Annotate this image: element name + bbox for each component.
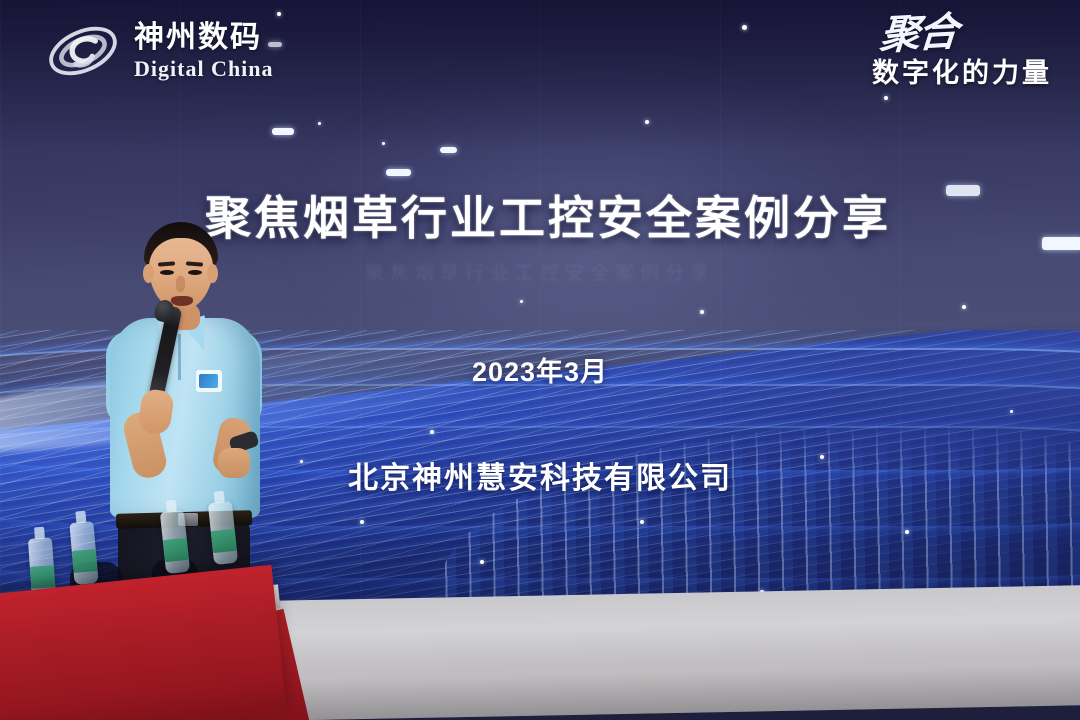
speaker-eye-left xyxy=(160,270,174,275)
particle-dot xyxy=(277,12,281,16)
particle-dot xyxy=(480,560,484,564)
particle-dot xyxy=(360,520,364,524)
digital-china-logo: 神州数码 Digital China xyxy=(44,18,274,84)
speaker-hand-right xyxy=(218,448,250,478)
event-logo: 聚合 数字化的力量 xyxy=(872,14,1052,87)
speaker-ear-left xyxy=(143,264,154,283)
company-logo-badge-icon xyxy=(199,374,218,388)
particle-dot xyxy=(962,305,966,309)
speaker-ear-right xyxy=(207,264,218,283)
speaker-mouth xyxy=(171,296,193,306)
particle-dot xyxy=(884,96,888,100)
particle-dot xyxy=(382,142,385,145)
particle-dot xyxy=(520,300,523,303)
light-dash xyxy=(386,169,411,176)
light-dash xyxy=(272,128,294,135)
particle-dot xyxy=(645,120,649,124)
brand-name-en: Digital China xyxy=(134,58,274,80)
particle-dot xyxy=(430,430,434,434)
particle-dot xyxy=(1010,410,1013,413)
speaker-eye-right xyxy=(188,270,202,275)
particle-dot xyxy=(640,520,644,524)
speaker-nose xyxy=(176,276,185,292)
particle-dot xyxy=(318,122,321,125)
speaker-shirt-placket xyxy=(178,334,181,380)
head-table-skirt xyxy=(0,565,287,720)
event-logo-tagline: 数字化的力量 xyxy=(872,60,1052,87)
conference-photo: 聚焦烟草行业工控安全案例分享 神州数码 Digital China 聚合 数字化… xyxy=(0,0,1080,720)
event-logo-calligraphy: 聚合 xyxy=(878,12,957,56)
digital-china-wordmark: 神州数码 Digital China xyxy=(134,23,274,80)
brand-name-cn: 神州数码 xyxy=(134,23,274,53)
galaxy-swirl-icon xyxy=(44,18,122,84)
particle-dot xyxy=(700,310,704,314)
particle-dot xyxy=(905,530,909,534)
light-dash xyxy=(440,147,457,153)
particle-dot xyxy=(742,25,747,30)
